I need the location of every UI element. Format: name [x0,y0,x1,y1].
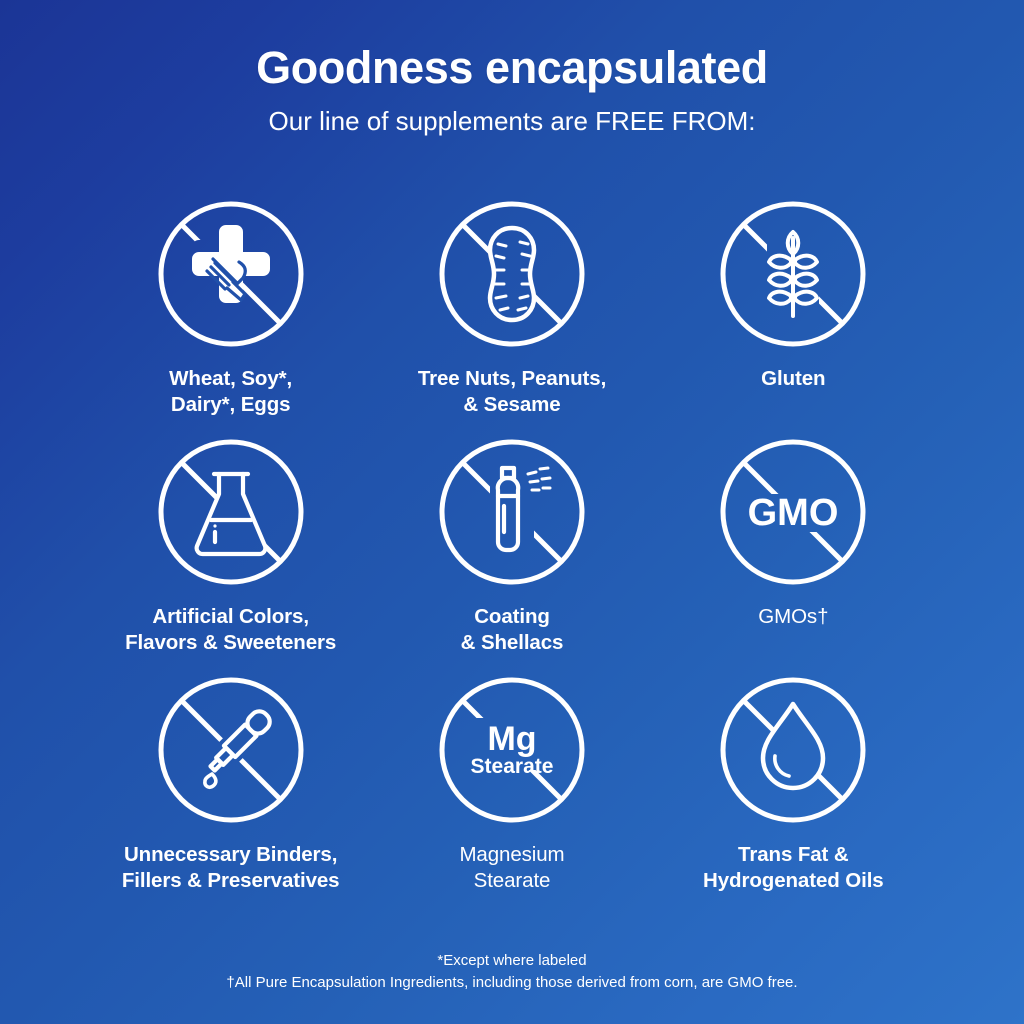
free-from-grid: Wheat, Soy*, Dairy*, Eggs [90,198,934,912]
footnote-asterisk: *Except where labeled [0,950,1024,972]
footnotes: *Except where labeled †All Pure Encapsul… [0,950,1024,994]
stearate-icon-text: Stearate [471,755,554,778]
grid-item-label: Trans Fat & Hydrogenated Oils [703,842,884,894]
grid-item-coating: Coating & Shellacs [371,436,652,674]
page-subtitle: Our line of supplements are FREE FROM: [0,107,1024,136]
gmo-icon-text: GMO [748,492,839,534]
no-gmo-text-icon: GMO [717,436,869,588]
grid-item-binders: Unnecessary Binders, Fillers & Preservat… [90,674,371,912]
no-magnesium-stearate-text-icon: Mg Stearate [436,674,588,826]
no-peanut-icon [436,198,588,350]
no-erlenmeyer-flask-icon [155,436,307,588]
no-wheat-stalk-icon [717,198,869,350]
grid-item-label: Magnesium Stearate [459,842,564,894]
grid-item-magnesium-stearate: Mg Stearate Magnesium Stearate [371,674,652,912]
grid-item-label: Wheat, Soy*, Dairy*, Eggs [169,366,292,418]
no-spray-can-icon [436,436,588,588]
grid-item-gmo: GMO GMOs† [653,436,934,674]
footnote-dagger: †All Pure Encapsulation Ingredients, inc… [0,972,1024,994]
grid-item-artificial-colors: Artificial Colors, Flavors & Sweeteners [90,436,371,674]
grid-item-gluten: Gluten [653,198,934,436]
no-oil-droplet-icon [717,674,869,826]
page-title: Goodness encapsulated [0,44,1024,93]
grid-item-allergens: Wheat, Soy*, Dairy*, Eggs [90,198,371,436]
grid-item-label: Gluten [761,366,825,392]
infographic-page: Goodness encapsulated Our line of supple… [0,0,1024,1024]
no-allergen-cross-fork-knife-icon [155,198,307,350]
grid-item-label: Artificial Colors, Flavors & Sweeteners [125,604,336,656]
grid-item-trans-fat: Trans Fat & Hydrogenated Oils [653,674,934,912]
grid-item-label: GMOs† [758,604,828,630]
header: Goodness encapsulated Our line of supple… [0,44,1024,135]
grid-item-nuts: Tree Nuts, Peanuts, & Sesame [371,198,652,436]
no-eyedropper-icon [155,674,307,826]
grid-item-label: Coating & Shellacs [461,604,564,656]
grid-item-label: Tree Nuts, Peanuts, & Sesame [418,366,606,418]
grid-item-label: Unnecessary Binders, Fillers & Preservat… [122,842,340,894]
mg-icon-text: Mg [487,720,536,758]
